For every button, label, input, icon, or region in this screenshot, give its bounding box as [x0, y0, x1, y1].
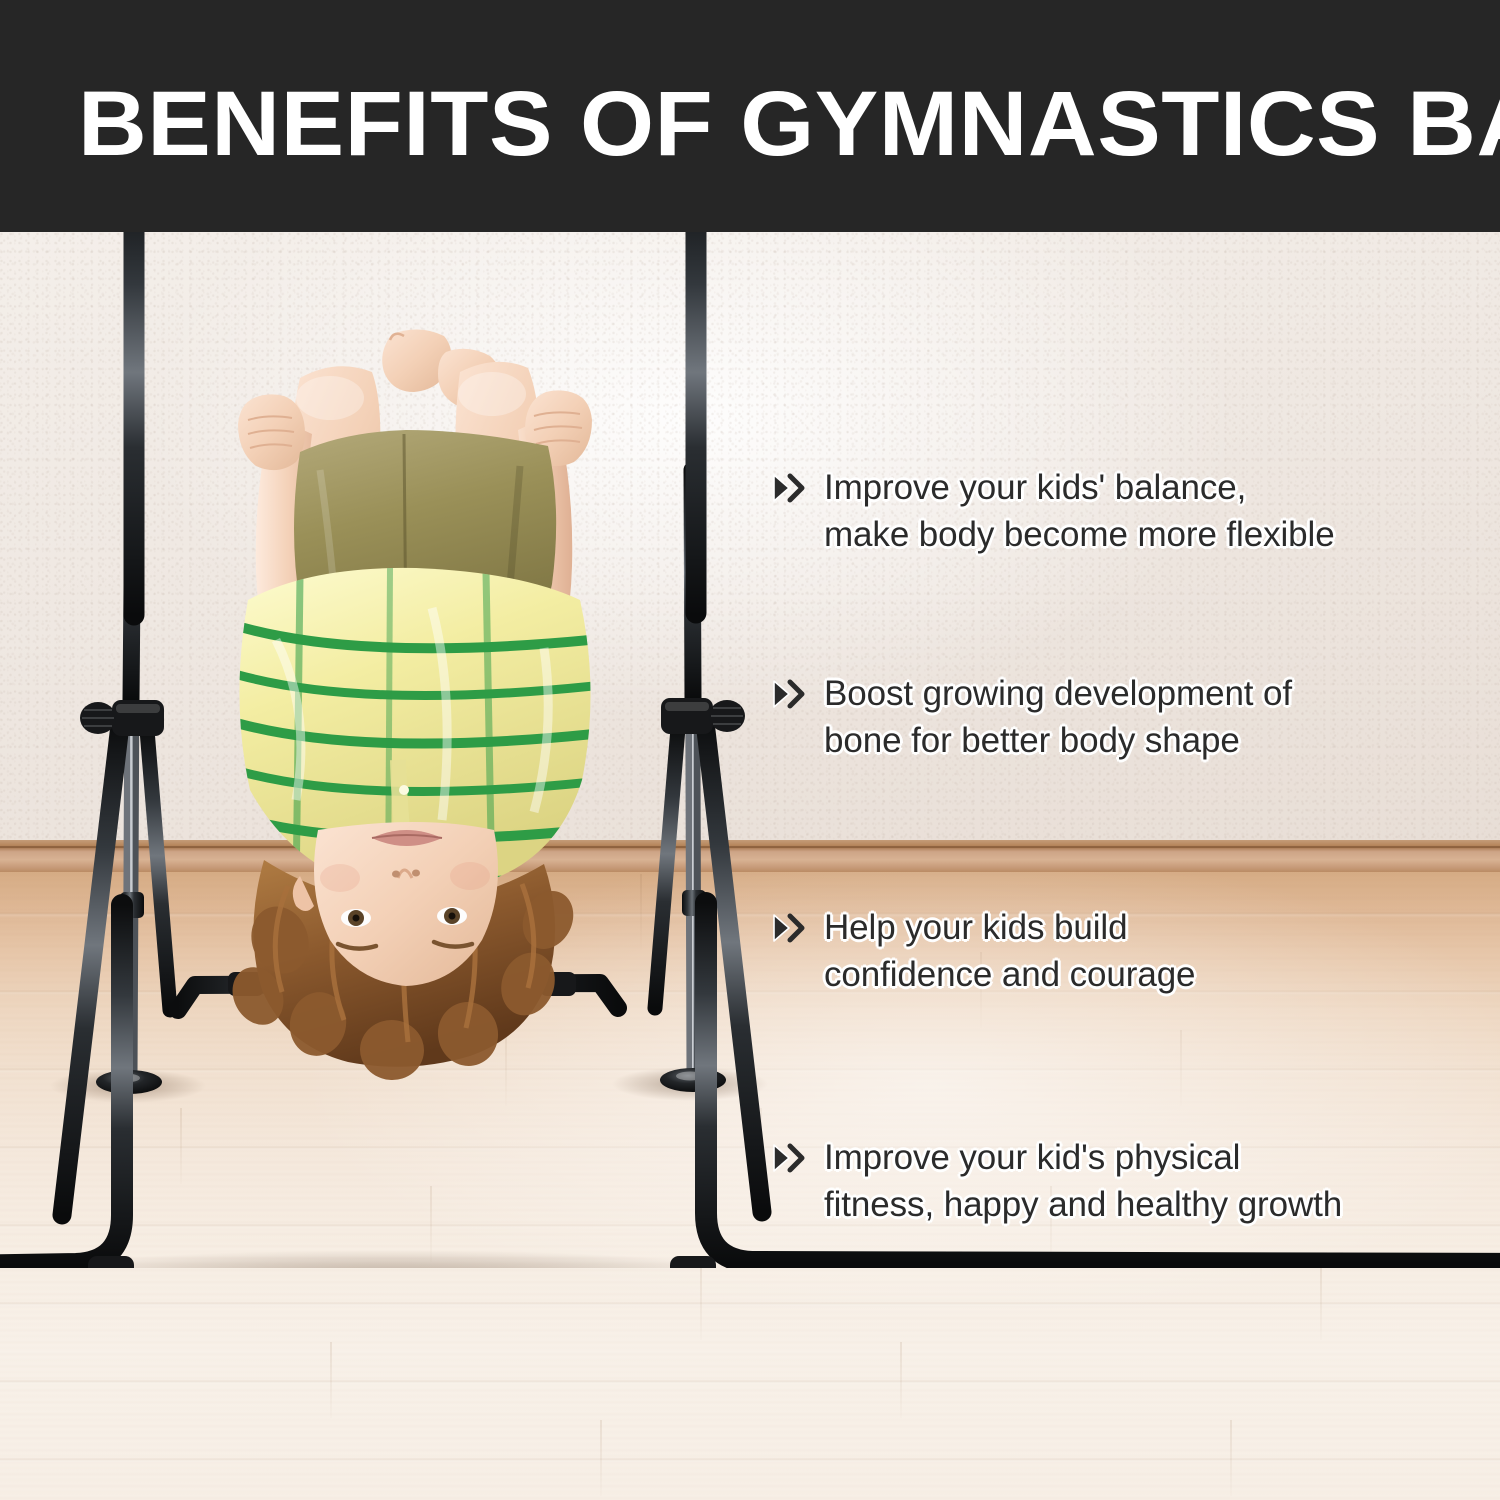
benefit-item-bone-development: Boost growing development ofbone for bet… — [772, 670, 1492, 764]
double-chevron-right-icon — [772, 1143, 806, 1173]
double-chevron-right-icon — [772, 473, 806, 503]
benefit-text: Help your kids buildconfidence and coura… — [824, 904, 1492, 998]
benefit-text: Improve your kids' balance,make body bec… — [824, 464, 1492, 558]
double-chevron-right-icon — [772, 913, 806, 943]
benefit-item-confidence: Help your kids buildconfidence and coura… — [772, 904, 1492, 998]
benefit-text: Improve your kid's physicalfitness, happ… — [824, 1134, 1492, 1228]
product-infographic-poster: BENEFITS OF GYMNASTICS BAR — [0, 0, 1500, 1500]
benefit-item-balance: Improve your kids' balance,make body bec… — [772, 464, 1492, 558]
benefit-item-physical-fitness: Improve your kid's physicalfitness, happ… — [772, 1134, 1492, 1228]
header-banner: BENEFITS OF GYMNASTICS BAR — [0, 0, 1500, 232]
benefits-list: Improve your kids' balance,make body bec… — [0, 232, 1500, 1500]
page-title: BENEFITS OF GYMNASTICS BAR — [78, 72, 1486, 178]
double-chevron-right-icon — [772, 679, 806, 709]
benefit-text: Boost growing development ofbone for bet… — [824, 670, 1492, 764]
